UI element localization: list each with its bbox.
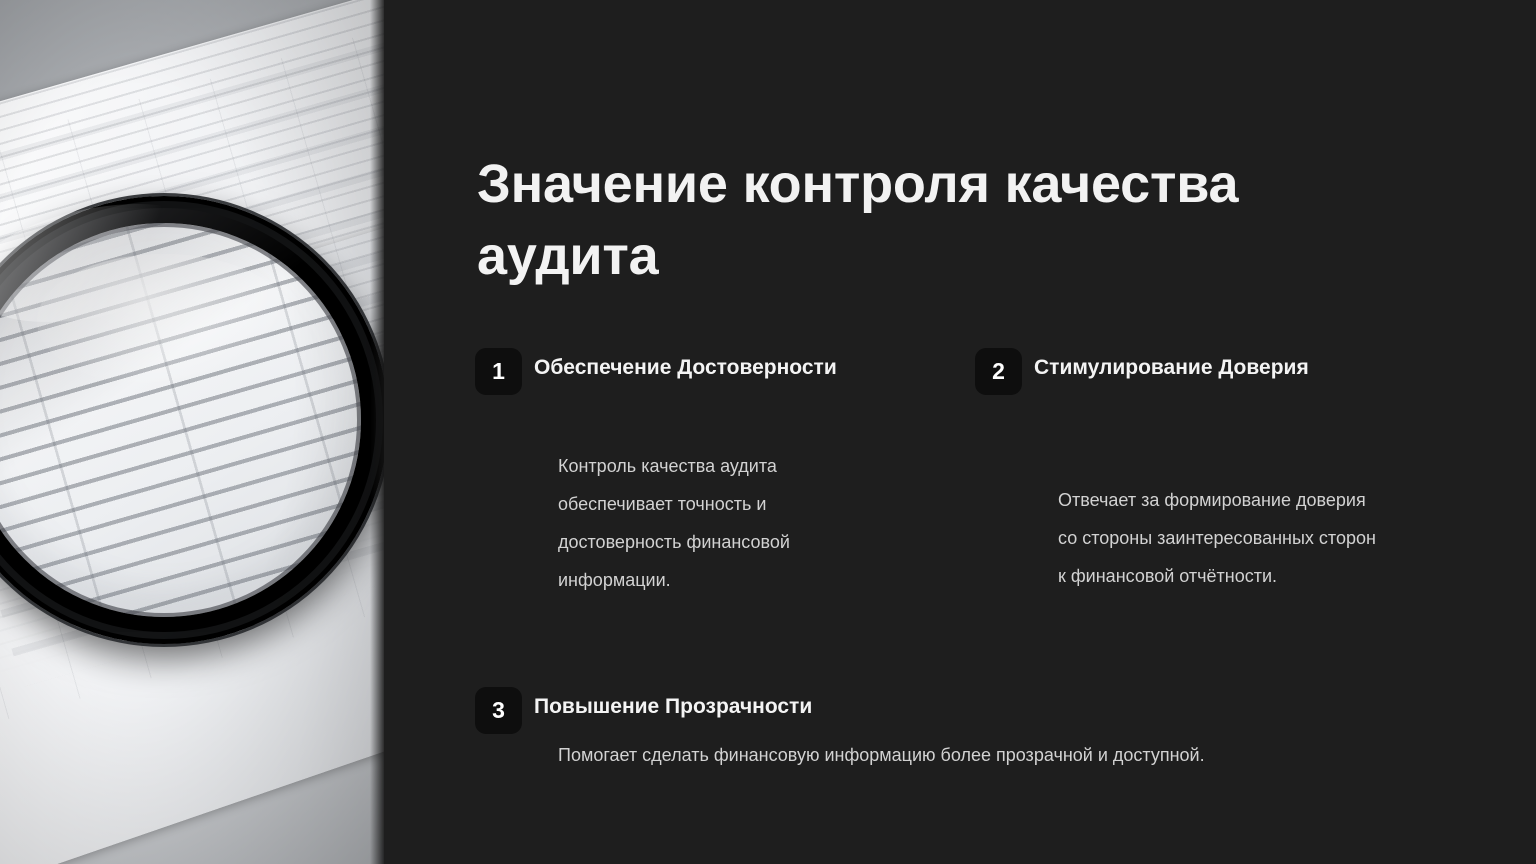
photo-edge-shadow — [370, 0, 384, 864]
magnifier-icon — [0, 196, 384, 644]
feature-row-top: 1 Обеспечение Достоверности Контроль кач… — [475, 348, 1475, 599]
feature-row-bottom: 3 Повышение Прозрачности Помогает сделат… — [475, 687, 1475, 774]
spacer — [975, 395, 1475, 481]
feature-item-1-head: 1 Обеспечение Достоверности — [475, 348, 975, 395]
feature-item-2-head: 2 Стимулирование Доверия — [975, 348, 1475, 395]
magnifier-photo — [0, 0, 384, 864]
feature-list: 1 Обеспечение Достоверности Контроль кач… — [475, 348, 1475, 774]
feature-body-3: Помогает сделать финансовую информацию б… — [558, 736, 1458, 774]
feature-item-2: 2 Стимулирование Доверия Отвечает за фор… — [975, 348, 1475, 599]
feature-item-3: 3 Повышение Прозрачности Помогает сделат… — [475, 687, 1475, 774]
content-panel: Значение контроля качества аудита 1 Обес… — [384, 0, 1536, 864]
feature-number-badge-3: 3 — [475, 687, 522, 734]
page-title: Значение контроля качества аудита — [477, 148, 1357, 292]
feature-item-3-head: 3 Повышение Прозрачности — [475, 687, 1475, 734]
feature-title-1: Обеспечение Достоверности — [534, 348, 837, 386]
feature-body-1: Контроль качества аудита обеспечивает то… — [558, 447, 878, 599]
feature-number-badge-1: 1 — [475, 348, 522, 395]
feature-item-1: 1 Обеспечение Достоверности Контроль кач… — [475, 348, 975, 599]
feature-body-2: Отвечает за формирование доверия со стор… — [1058, 481, 1378, 595]
feature-title-2: Стимулирование Доверия — [1034, 348, 1309, 386]
slide: Значение контроля качества аудита 1 Обес… — [0, 0, 1536, 864]
feature-number-badge-2: 2 — [975, 348, 1022, 395]
feature-title-3: Повышение Прозрачности — [534, 687, 812, 725]
spacer — [475, 395, 975, 447]
